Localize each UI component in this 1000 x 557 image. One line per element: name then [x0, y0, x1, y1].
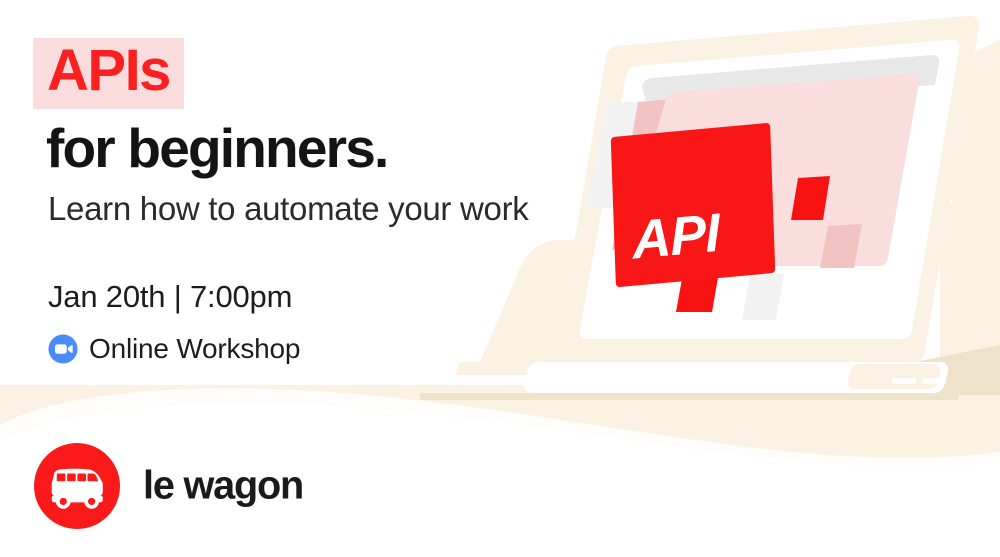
event-datetime: Jan 20th | 7:00pm: [48, 279, 292, 315]
poster-canvas: API APIs for beginners. Learn how to aut…: [0, 0, 1000, 557]
brand-logo: le wagon: [34, 443, 325, 529]
le-wagon-van-icon: [34, 443, 120, 529]
api-card: API: [611, 123, 776, 288]
svg-text:le wagon: le wagon: [143, 464, 303, 508]
le-wagon-wordmark: le wagon: [143, 463, 325, 509]
headline-line-two: for beginners.: [46, 118, 388, 179]
event-venue-label: Online Workshop: [89, 333, 300, 365]
headline-highlight: APIs: [33, 38, 184, 109]
laptop-deck-inner: [848, 364, 940, 389]
subheadline: Learn how to automate your work: [48, 190, 528, 228]
headline-highlight-text: APIs: [47, 40, 170, 103]
zoom-video-camera-icon: [48, 334, 78, 364]
laptop-key-1: [892, 378, 916, 384]
event-venue-row: Online Workshop: [48, 333, 300, 365]
laptop-key-2: [922, 378, 946, 384]
api-card-label: API: [631, 206, 720, 268]
